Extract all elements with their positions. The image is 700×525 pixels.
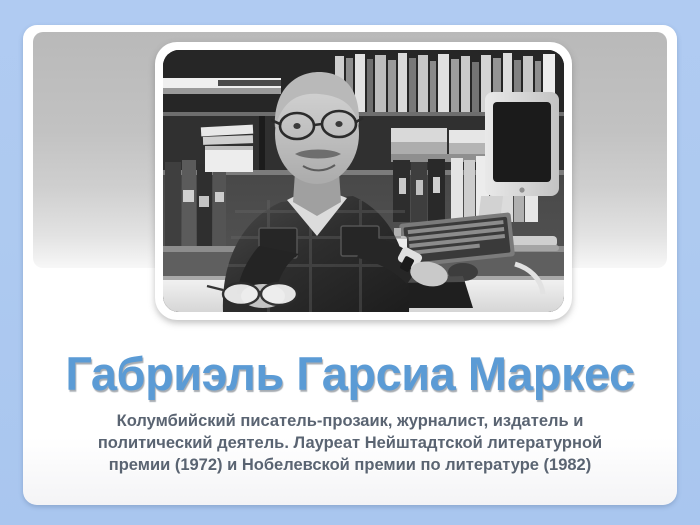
slide-card: Габриэль Гарсиа Маркес Колумбийский писа… bbox=[23, 25, 677, 505]
presentation-slide: Габриэль Гарсиа Маркес Колумбийский писа… bbox=[0, 0, 700, 525]
portrait-photo-illustration bbox=[163, 50, 564, 312]
page-title: Габриэль Гарсиа Маркес bbox=[23, 350, 677, 397]
portrait-photo bbox=[163, 50, 564, 312]
slide-subtitle: Колумбийский писатель-прозаик, журналист… bbox=[65, 411, 635, 477]
photo-frame bbox=[155, 42, 572, 320]
